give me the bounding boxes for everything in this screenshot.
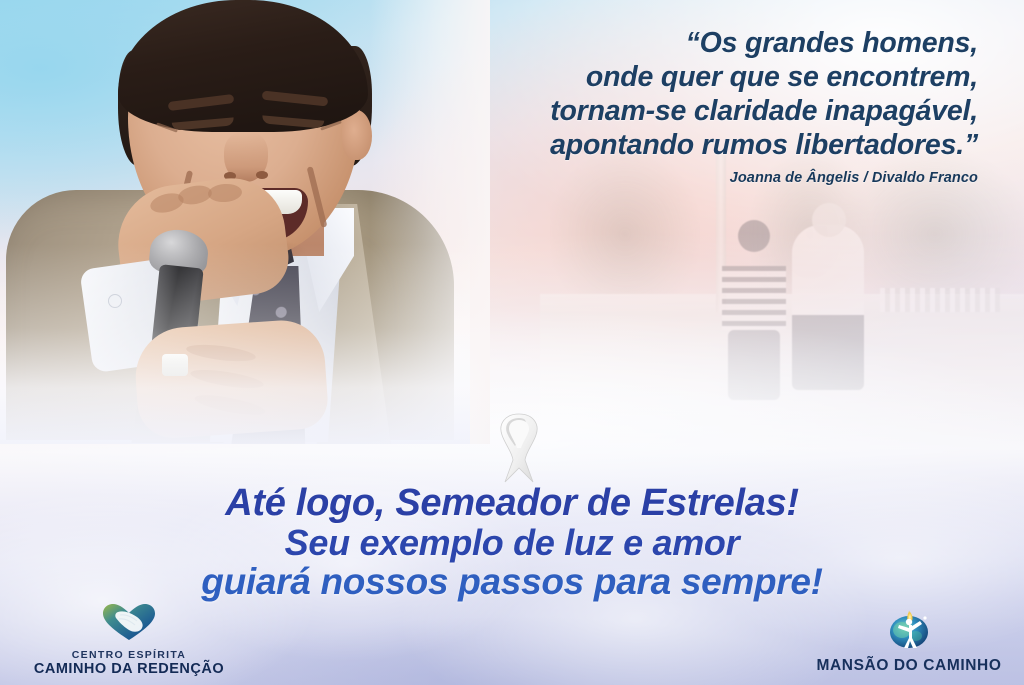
white-ribbon-icon [483, 408, 555, 486]
globe-figure-icon [804, 606, 1014, 655]
headline-line-1: Até logo, Semeador de Estrelas! [0, 484, 1024, 523]
logo-centro-espirita: CENTRO ESPÍRITA CAMINHO DA REDENÇÃO [14, 602, 244, 677]
nostril-right [256, 171, 268, 179]
memorial-poster: “Os grandes homens, onde quer que se enc… [0, 0, 1024, 685]
logo-left-line-2: CAMINHO DA REDENÇÃO [14, 661, 244, 677]
quote-text: “Os grandes homens, onde quer que se enc… [418, 26, 978, 162]
quote-line-1: “Os grandes homens, [418, 26, 978, 60]
portrait-divaldo [0, 0, 470, 424]
headline: Até logo, Semeador de Estrelas! Seu exem… [0, 484, 1024, 601]
headline-line-3: guiará nossos passos para sempre! [0, 562, 1024, 601]
logo-mansao-do-caminho: MANSÃO DO CAMINHO [804, 606, 1014, 675]
headline-line-2: Seu exemplo de luz e amor [0, 523, 1024, 562]
logo-left-line-1: CENTRO ESPÍRITA [14, 649, 244, 661]
quote-line-3: tornam-se claridade inapagável, [418, 94, 978, 128]
logo-right-line-1: MANSÃO DO CAMINHO [804, 657, 1014, 675]
quote-line-4: apontando rumos libertadores.” [418, 128, 978, 162]
quote-line-2: onde quer que se encontrem, [418, 60, 978, 94]
hand-heart-icon [14, 602, 244, 647]
quote-attribution: Joanna de Ângelis / Divaldo Franco [418, 170, 978, 186]
hair [118, 0, 368, 132]
